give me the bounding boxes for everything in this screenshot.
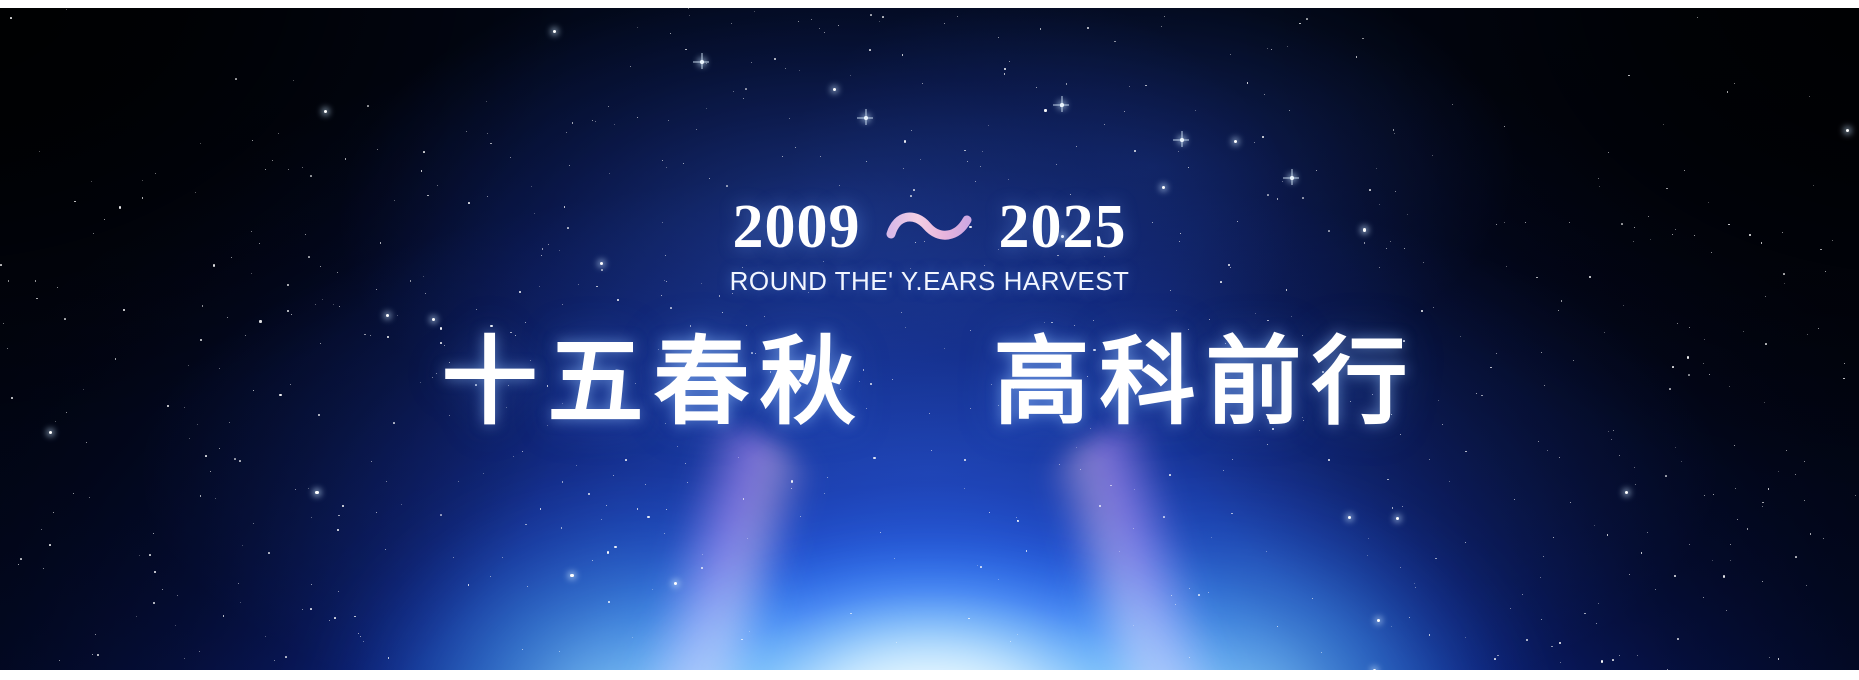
bottom-white-strip [0,670,1859,680]
wave-tilde-icon [887,204,973,250]
end-year: 2025 [999,196,1127,258]
headline-right: 高科前行 [994,332,1418,433]
year-range: 2009 2025 [0,196,1859,258]
start-year: 2009 [733,196,861,258]
english-subtitle: ROUND THE' Y.EARS HARVEST [0,266,1859,297]
banner-text-group: 2009 2025 ROUND THE' Y.EARS HARV [0,0,1859,680]
anniversary-banner: 2009 2025 ROUND THE' Y.EARS HARV [0,0,1859,680]
headline-left: 十五春秋 [442,332,866,433]
chinese-headline: 十五春秋 高科前行 [0,332,1859,433]
top-white-strip [0,0,1859,8]
